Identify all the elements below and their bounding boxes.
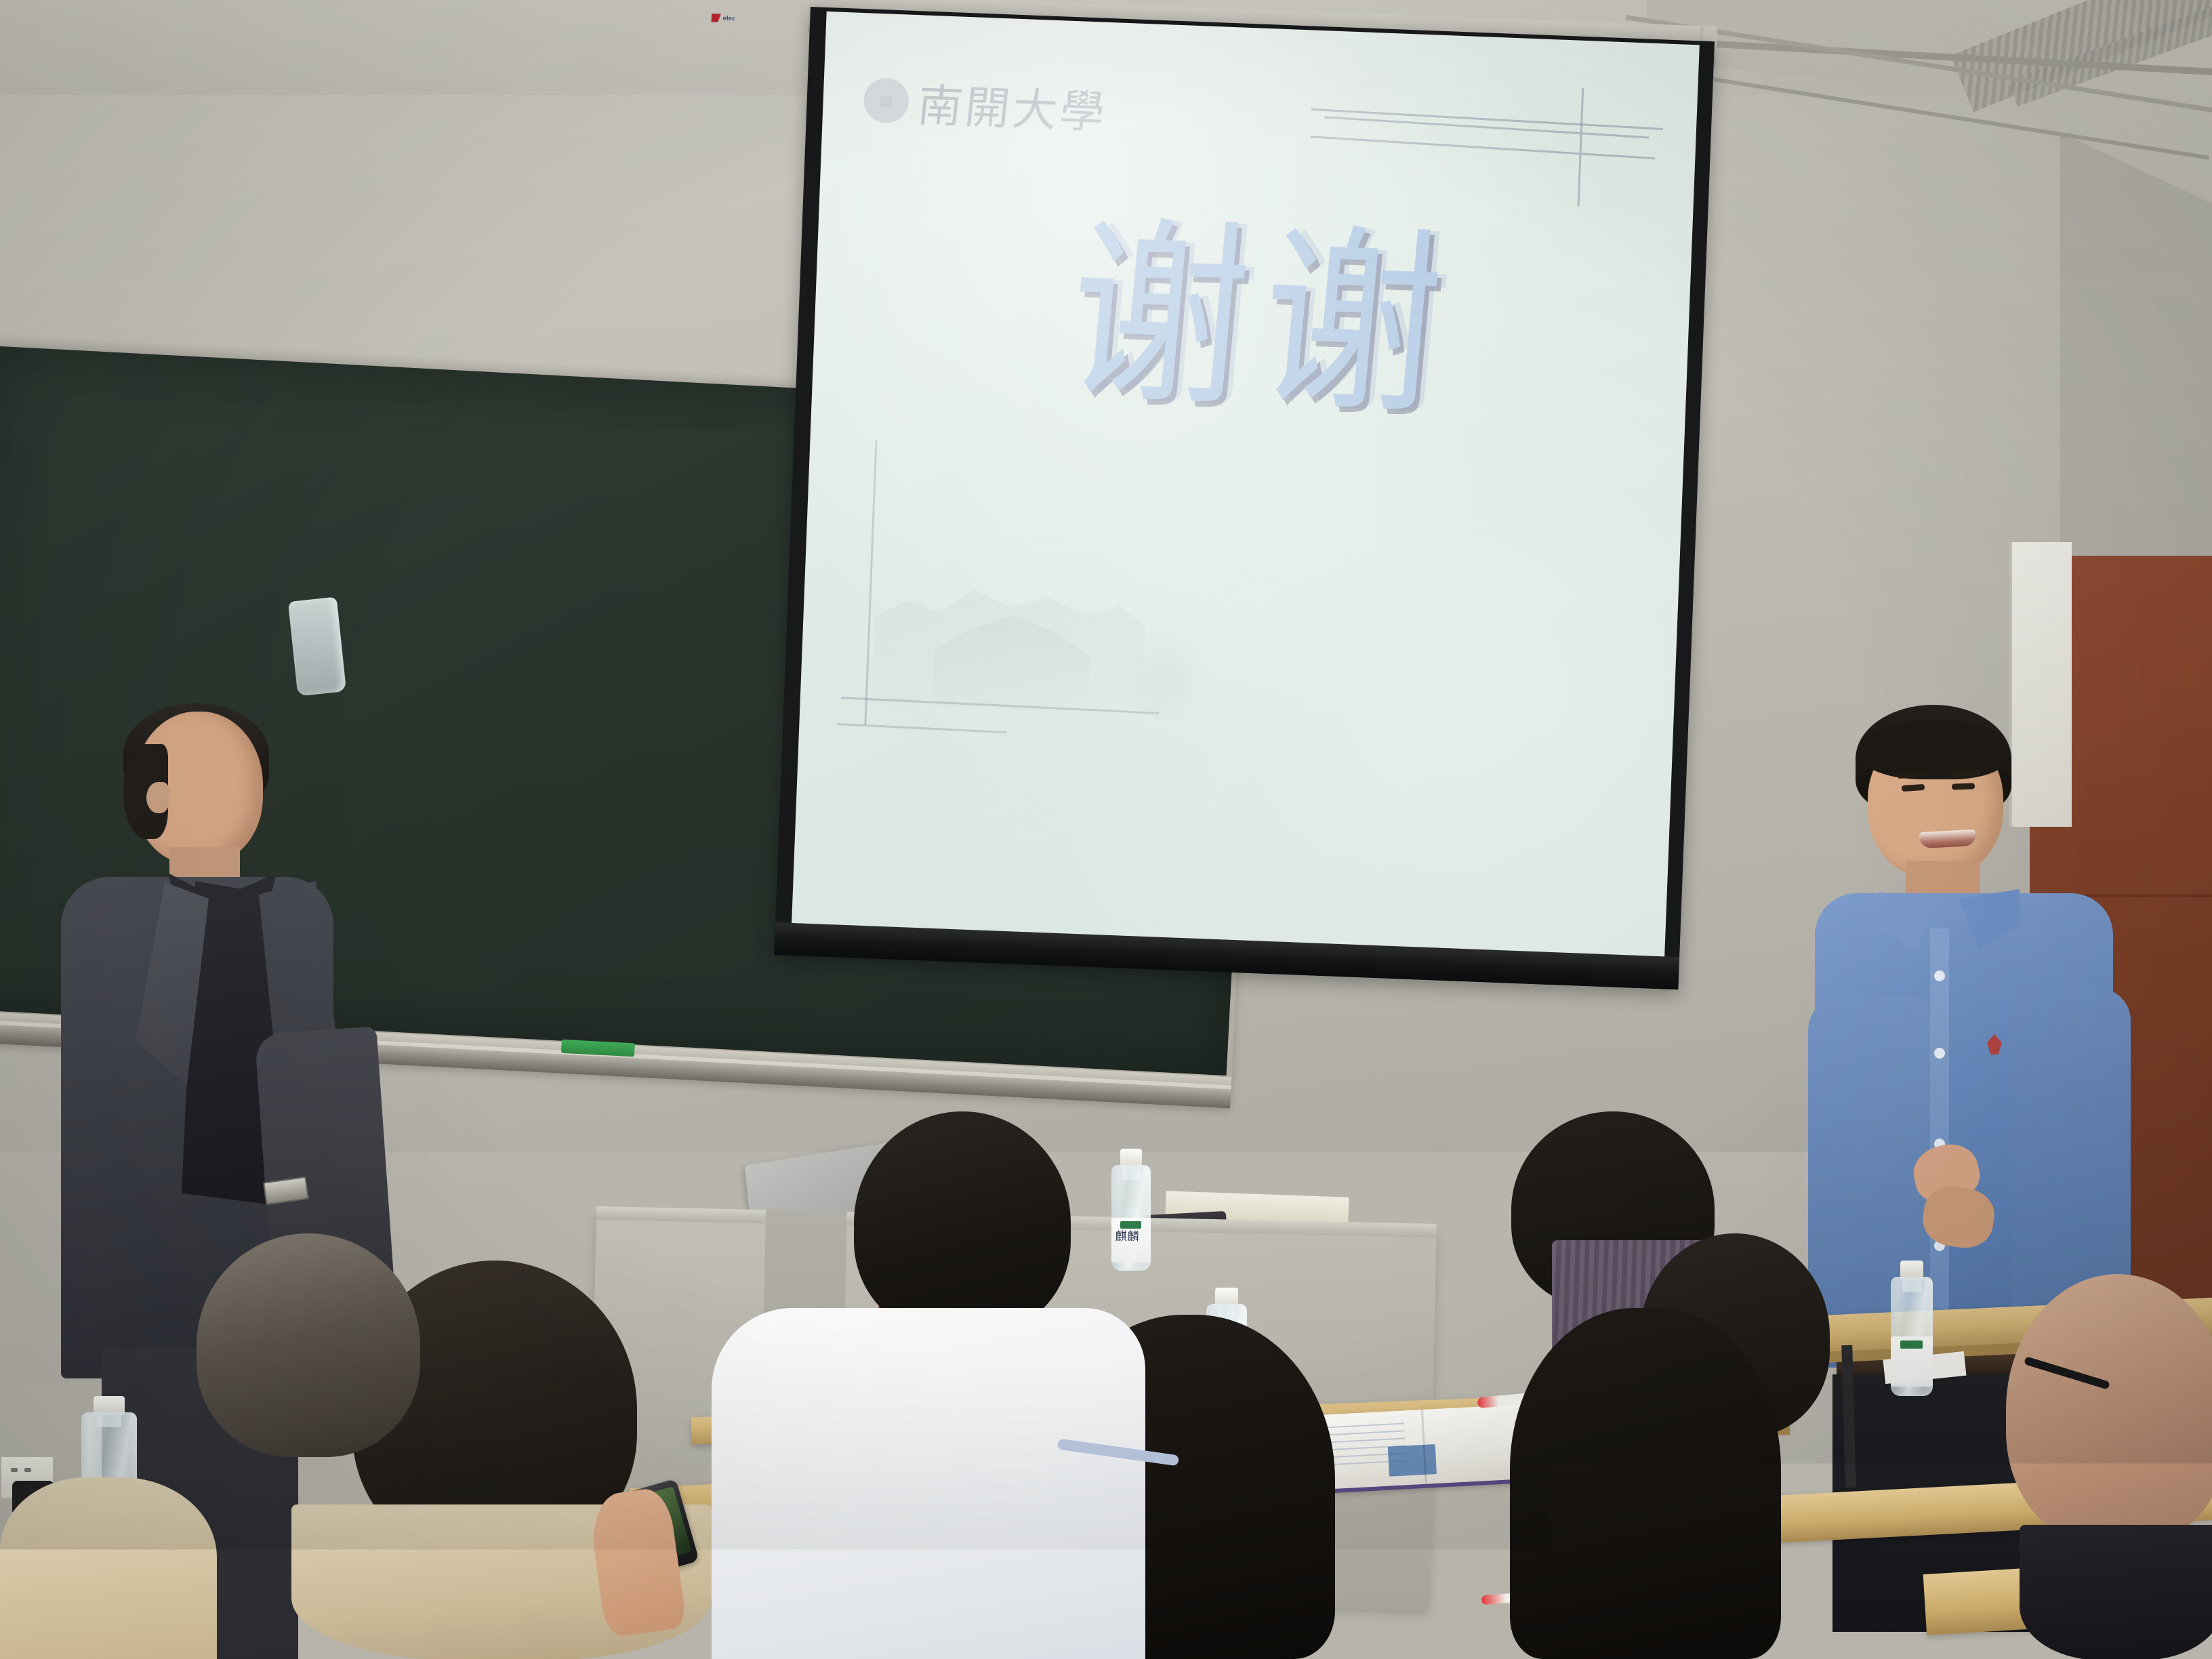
audience-head-gray-hair <box>197 1233 420 1457</box>
audience-body-white-shirt <box>712 1308 1145 1659</box>
audience-head-long-hair-right <box>1510 1308 1781 1659</box>
bottle-label-text: 麒麟 <box>1115 1231 1147 1244</box>
slide-main-text: 谢谢 <box>895 207 1631 433</box>
projection-screen: 南 南開大學 谢谢 <box>774 7 1715 989</box>
flag-icon <box>711 13 720 22</box>
cross-line-v1 <box>1578 88 1584 207</box>
audience-shoulder-khaki-front <box>0 1477 217 1659</box>
bottle-label: 麒麟 <box>1111 1218 1151 1263</box>
slide-watermark-image <box>829 446 1328 749</box>
open-notebook[interactable] <box>1313 1404 1534 1494</box>
screen-brand-text: elec <box>723 15 736 22</box>
university-name-text: 南開大學 <box>915 69 1111 141</box>
screen-brand-label: elec <box>711 12 752 24</box>
speaker-right-fringe <box>1860 720 2009 779</box>
seal-glyph: 南 <box>879 91 893 111</box>
slide-surface: 南 南開大學 谢谢 <box>792 12 1700 958</box>
bottle-label-band <box>1900 1340 1923 1349</box>
bottle-body: 麒麟 <box>1111 1165 1151 1271</box>
speaker-left-ear <box>146 782 169 813</box>
bottle-body <box>1891 1277 1933 1396</box>
speaker-right-eye-right <box>1952 783 1975 790</box>
outlet-slot-right <box>24 1468 31 1472</box>
bottle-desk-right[interactable] <box>1891 1261 1933 1396</box>
audience-body-glasses-right <box>2020 1525 2212 1659</box>
shirt-button <box>1934 970 1945 981</box>
bottle-label <box>1891 1336 1933 1387</box>
classroom-photo: elec 南 南開大學 谢谢 <box>0 0 2212 1659</box>
cross-line-h2 <box>1310 136 1655 159</box>
speaker-left-held-bottle <box>288 597 346 697</box>
outlet-slot-left <box>11 1468 18 1472</box>
slide-institution-logo: 南 南開大學 <box>863 67 1109 142</box>
bottle-podium-right[interactable]: 麒麟 <box>1111 1149 1151 1271</box>
university-seal-icon: 南 <box>863 77 909 123</box>
bottle-label-band <box>1120 1221 1141 1228</box>
audience-head-white-shirt <box>854 1111 1071 1335</box>
notebook-figure <box>1388 1444 1437 1477</box>
shirt-button <box>1934 1048 1945 1059</box>
audience-head-glasses-right <box>2006 1274 2212 1545</box>
slide-cross-decoration <box>1538 87 1651 213</box>
